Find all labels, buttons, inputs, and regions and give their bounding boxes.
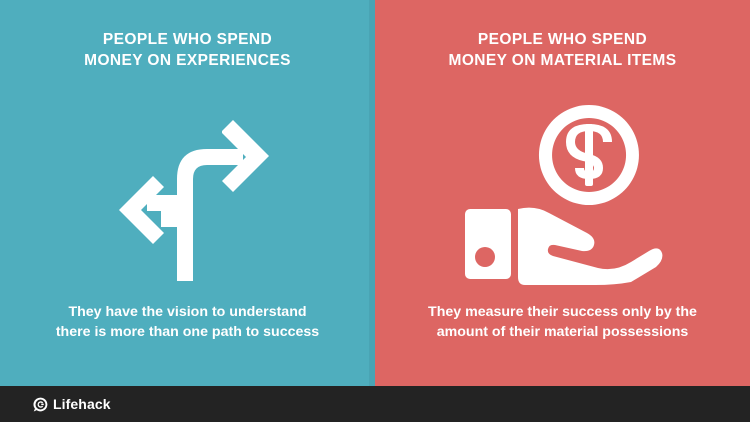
footer-bar: Lifehack bbox=[0, 386, 750, 422]
panel-experiences-heading: PEOPLE WHO SPEND MONEY ON EXPERIENCES bbox=[0, 29, 375, 71]
panel-experiences: PEOPLE WHO SPEND MONEY ON EXPERIENCES bbox=[0, 0, 375, 386]
panel-experiences-caption: They have the vision to understand there… bbox=[10, 302, 365, 342]
panel-material-items-icon-area bbox=[375, 100, 750, 290]
hand-holding-dollar-coin-icon bbox=[463, 105, 663, 285]
heading-line-2: MONEY ON EXPERIENCES bbox=[0, 50, 375, 71]
comparison-panels: PEOPLE WHO SPEND MONEY ON EXPERIENCES bbox=[0, 0, 750, 386]
lifehack-brand[interactable]: Lifehack bbox=[33, 397, 111, 412]
heading-line-1: PEOPLE WHO SPEND bbox=[375, 29, 750, 50]
panel-material-items-caption: They measure their success only by the a… bbox=[385, 302, 740, 342]
caption-line-1: They have the vision to understand bbox=[10, 302, 365, 322]
fork-arrows-icon bbox=[103, 109, 273, 281]
heading-line-2: MONEY ON MATERIAL ITEMS bbox=[375, 50, 750, 71]
lifehack-brand-name: Lifehack bbox=[53, 397, 111, 411]
caption-line-1: They measure their success only by the bbox=[385, 302, 740, 322]
panel-experiences-icon-area bbox=[0, 100, 375, 290]
infographic-canvas: PEOPLE WHO SPEND MONEY ON EXPERIENCES bbox=[0, 0, 750, 422]
caption-line-2: amount of their material possessions bbox=[385, 322, 740, 342]
panel-material-items-heading: PEOPLE WHO SPEND MONEY ON MATERIAL ITEMS bbox=[375, 29, 750, 71]
panel-material-items: PEOPLE WHO SPEND MONEY ON MATERIAL ITEMS bbox=[375, 0, 750, 386]
lifehack-logo-icon bbox=[33, 397, 48, 412]
heading-line-1: PEOPLE WHO SPEND bbox=[0, 29, 375, 50]
caption-line-2: there is more than one path to success bbox=[10, 322, 365, 342]
